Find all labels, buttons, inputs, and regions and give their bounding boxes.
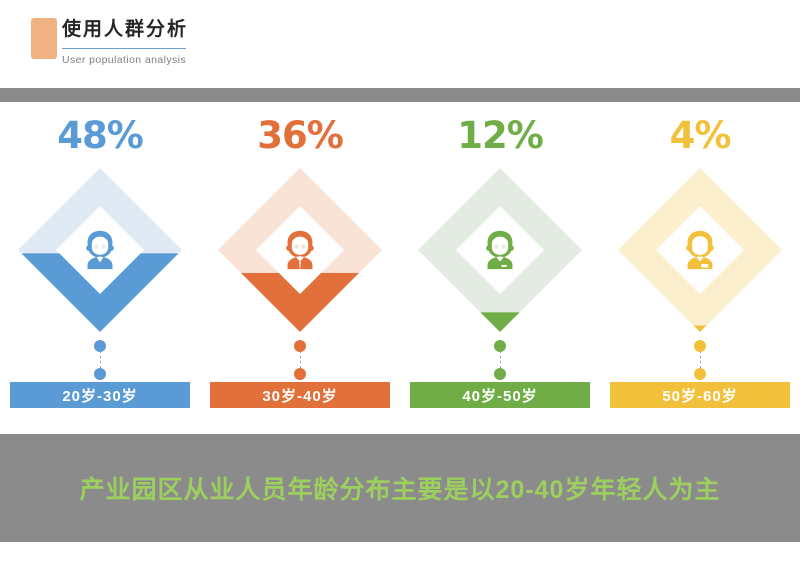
percent-value-4: 4%: [600, 114, 800, 158]
percent-value-1: 48%: [0, 114, 200, 158]
connector-4: [600, 338, 800, 382]
diamond-gauge-4: [612, 162, 788, 338]
percent-value-2: 36%: [200, 114, 400, 158]
footer-whitespace: [0, 542, 800, 566]
segment-1: 48%20岁-30岁: [0, 102, 200, 422]
age-label-4[interactable]: 50岁-60岁: [610, 382, 790, 408]
page-header: 使用人群分析 User population analysis: [0, 0, 800, 88]
percent-value-3: 12%: [400, 114, 600, 158]
page-title: 使用人群分析: [62, 17, 188, 43]
age-label-2[interactable]: 30岁-40岁: [210, 382, 390, 408]
connector-3: [400, 338, 600, 382]
segment-2: 36%30岁-40岁: [200, 102, 400, 422]
connector-dot-bottom: [694, 368, 706, 380]
header-underline: [62, 48, 186, 49]
diamond-gauge-1: [12, 162, 188, 338]
segment-4: 4%50岁-60岁: [600, 102, 800, 422]
footer-banner-text: 产业园区从业人员年龄分布主要是以20-40岁年轻人为主: [0, 434, 800, 542]
diamond-gauge-3: [412, 162, 588, 338]
diamond-gauge-2: [212, 162, 388, 338]
connector-dot-top: [694, 340, 706, 352]
connector-dot-bottom: [494, 368, 506, 380]
segment-3: 12%40岁-50岁: [400, 102, 600, 422]
header-divider-bar: [0, 88, 800, 102]
infographic-page: 使用人群分析 User population analysis 48%20岁-3…: [0, 0, 800, 566]
age-label-3[interactable]: 40岁-50岁: [410, 382, 590, 408]
connector-dot-top: [494, 340, 506, 352]
connector-dot-bottom: [294, 368, 306, 380]
age-label-1[interactable]: 20岁-30岁: [10, 382, 190, 408]
connector-2: [200, 338, 400, 382]
connector-dot-top: [94, 340, 106, 352]
connector-dot-bottom: [94, 368, 106, 380]
connector-1: [0, 338, 200, 382]
header-accent-swatch: [31, 18, 57, 59]
page-subtitle: User population analysis: [62, 52, 186, 68]
connector-dot-top: [294, 340, 306, 352]
